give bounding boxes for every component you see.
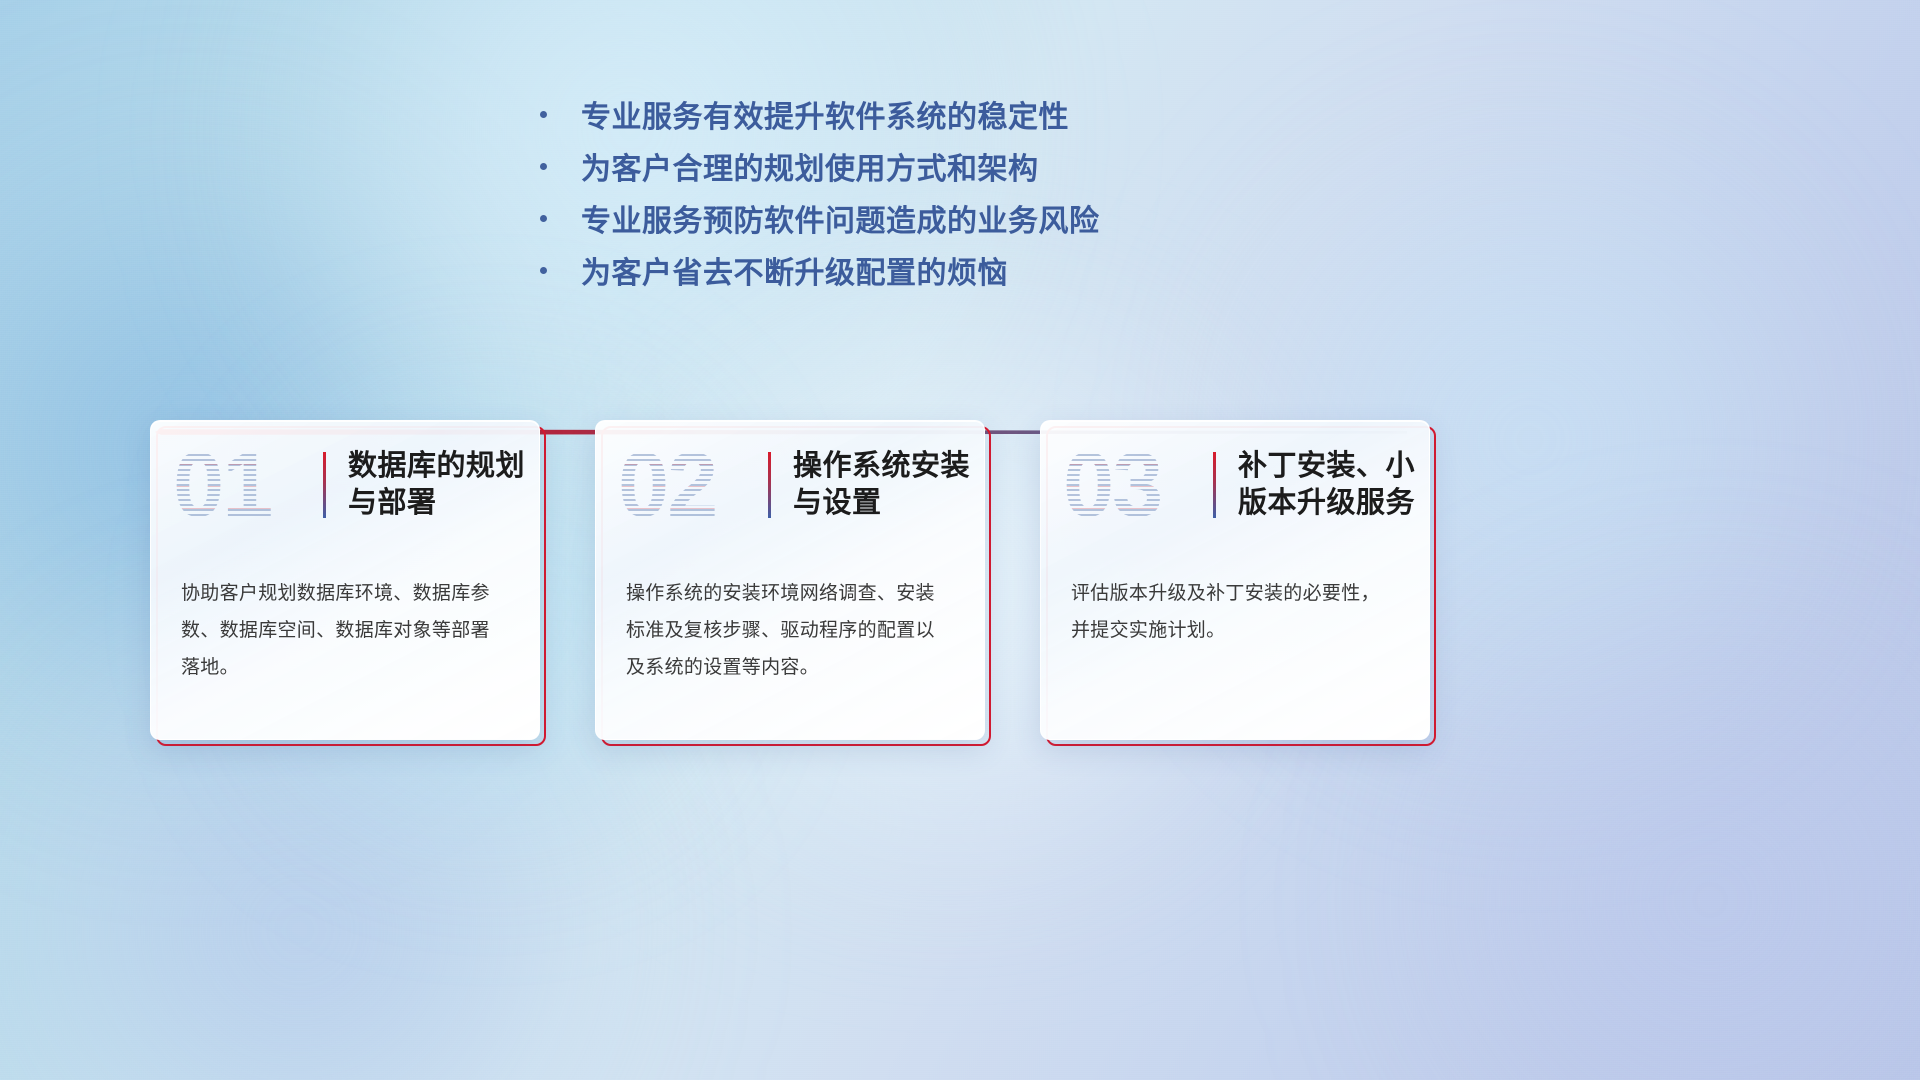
bullet-dot-icon: [540, 111, 547, 118]
card-title-accent-bar: [1213, 452, 1216, 518]
card-header: 02 操作系统安装与设置: [596, 421, 984, 549]
list-item: 为客户省去不断升级配置的烦恼: [540, 244, 1100, 296]
list-item: 专业服务有效提升软件系统的稳定性: [540, 88, 1100, 140]
bullet-dot-icon: [540, 215, 547, 222]
card-surface: 03 补丁安装、小版本升级服务 评估版本升级及补丁安装的必要性，并提交实施计划。: [1040, 420, 1430, 740]
bullet-text: 为客户合理的规划使用方式和架构: [581, 144, 1039, 188]
bullet-text: 专业服务预防软件问题造成的业务风险: [581, 196, 1100, 240]
card-title: 补丁安装、小版本升级服务: [1238, 448, 1429, 522]
service-cards-row: 01 数据库的规划与部署 协助客户规划数据库环境、数据库参数、数据库空间、数据库…: [150, 420, 1770, 740]
card-body-text: 操作系统的安装环境网络调查、安装标准及复核步骤、驱动程序的配置以及系统的设置等内…: [596, 549, 984, 686]
card-number-watermark: 02: [618, 439, 768, 531]
bullet-dot-icon: [540, 163, 547, 170]
card-number-watermark: 03: [1063, 439, 1213, 531]
bullet-text: 为客户省去不断升级配置的烦恼: [581, 248, 1008, 292]
card-body-text: 协助客户规划数据库环境、数据库参数、数据库空间、数据库对象等部署落地。: [151, 549, 539, 686]
list-item: 为客户合理的规划使用方式和架构: [540, 140, 1100, 192]
bullet-dot-icon: [540, 267, 547, 274]
card-surface: 01 数据库的规划与部署 协助客户规划数据库环境、数据库参数、数据库空间、数据库…: [150, 420, 540, 740]
service-card-01[interactable]: 01 数据库的规划与部署 协助客户规划数据库环境、数据库参数、数据库空间、数据库…: [150, 420, 540, 740]
card-body-text: 评估版本升级及补丁安装的必要性，并提交实施计划。: [1041, 549, 1429, 649]
card-number-watermark: 01: [173, 439, 323, 531]
card-header: 01 数据库的规划与部署: [151, 421, 539, 549]
card-title-accent-bar: [768, 452, 771, 518]
list-item: 专业服务预防软件问题造成的业务风险: [540, 192, 1100, 244]
bullet-text: 专业服务有效提升软件系统的稳定性: [581, 92, 1069, 136]
card-title: 操作系统安装与设置: [793, 448, 984, 522]
card-title: 数据库的规划与部署: [348, 448, 539, 522]
service-card-03[interactable]: 03 补丁安装、小版本升级服务 评估版本升级及补丁安装的必要性，并提交实施计划。: [1040, 420, 1430, 740]
card-surface: 02 操作系统安装与设置 操作系统的安装环境网络调查、安装标准及复核步骤、驱动程…: [595, 420, 985, 740]
card-title-accent-bar: [323, 452, 326, 518]
service-card-02[interactable]: 02 操作系统安装与设置 操作系统的安装环境网络调查、安装标准及复核步骤、驱动程…: [595, 420, 985, 740]
card-header: 03 补丁安装、小版本升级服务: [1041, 421, 1429, 549]
benefits-bullet-list: 专业服务有效提升软件系统的稳定性 为客户合理的规划使用方式和架构 专业服务预防软…: [540, 88, 1100, 296]
